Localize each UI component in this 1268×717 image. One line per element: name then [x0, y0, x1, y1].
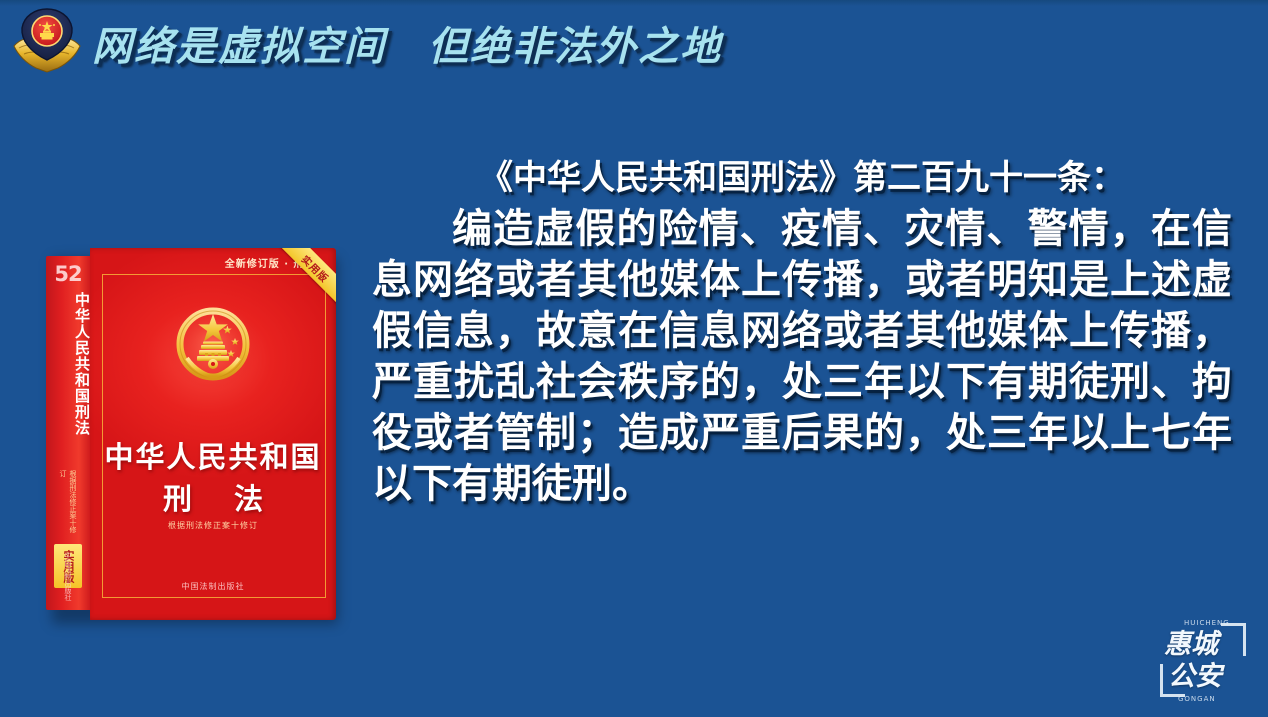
criminal-law-book-image: 52 中华人民共和国刑法 根据刑法修正案十修订 实用版 中国法制出版社 全新修订…	[46, 248, 338, 622]
header-banner: 网络是虚拟空间 但绝非法外之地	[0, 0, 1268, 92]
watermark-characters: 惠城 公安	[1164, 629, 1248, 695]
book-spine-publisher: 中国法制出版社	[63, 552, 73, 606]
book-cover-publisher: 中国法制出版社	[90, 581, 336, 592]
book-spine-number: 52	[46, 262, 90, 286]
book-spine-subtitle: 根据刑法修正案十修订	[58, 470, 78, 538]
book-cover-title-line1: 中华人民共和国	[90, 434, 336, 476]
book-cover-title-line2: 刑 法	[90, 476, 336, 518]
law-article-body: 编造虚假的险情、疫情、灾情、警情，在信息网络或者其他媒体上传播，或者明知是上述虚…	[372, 204, 1232, 510]
watermark-pinyin-bottom: GONGAN	[1178, 695, 1216, 703]
national-emblem-icon	[165, 296, 261, 392]
book-spine-title: 中华人民共和国刑法	[46, 292, 90, 462]
watermark-char-row1: 惠城	[1164, 629, 1248, 661]
watermark-char-row2: 公安	[1164, 661, 1248, 693]
police-badge-icon	[10, 6, 84, 78]
law-article-block: 《中华人民共和国刑法》第二百九十一条： 编造虚假的险情、疫情、灾情、警情，在信息…	[372, 152, 1232, 510]
book-cover-note: 根据刑法修正案十修订	[90, 520, 336, 531]
watermark-pinyin-top: HUICHENG	[1184, 619, 1230, 627]
law-article-title: 《中华人民共和国刑法》第二百九十一条：	[372, 152, 1232, 204]
book-spine: 52 中华人民共和国刑法 根据刑法修正案十修订 实用版 中国法制出版社	[46, 256, 90, 610]
header-slogan: 网络是虚拟空间 但绝非法外之地	[92, 14, 722, 72]
book-front-cover: 全新修订版 · 刑 法 实用版	[90, 248, 336, 620]
slide-canvas: 网络是虚拟空间 但绝非法外之地 52 中华人民共和国刑法 根据刑法修正案十修订 …	[0, 0, 1268, 717]
huicheng-police-watermark: HUICHENG 惠城 公安 GONGAN	[1158, 617, 1250, 703]
